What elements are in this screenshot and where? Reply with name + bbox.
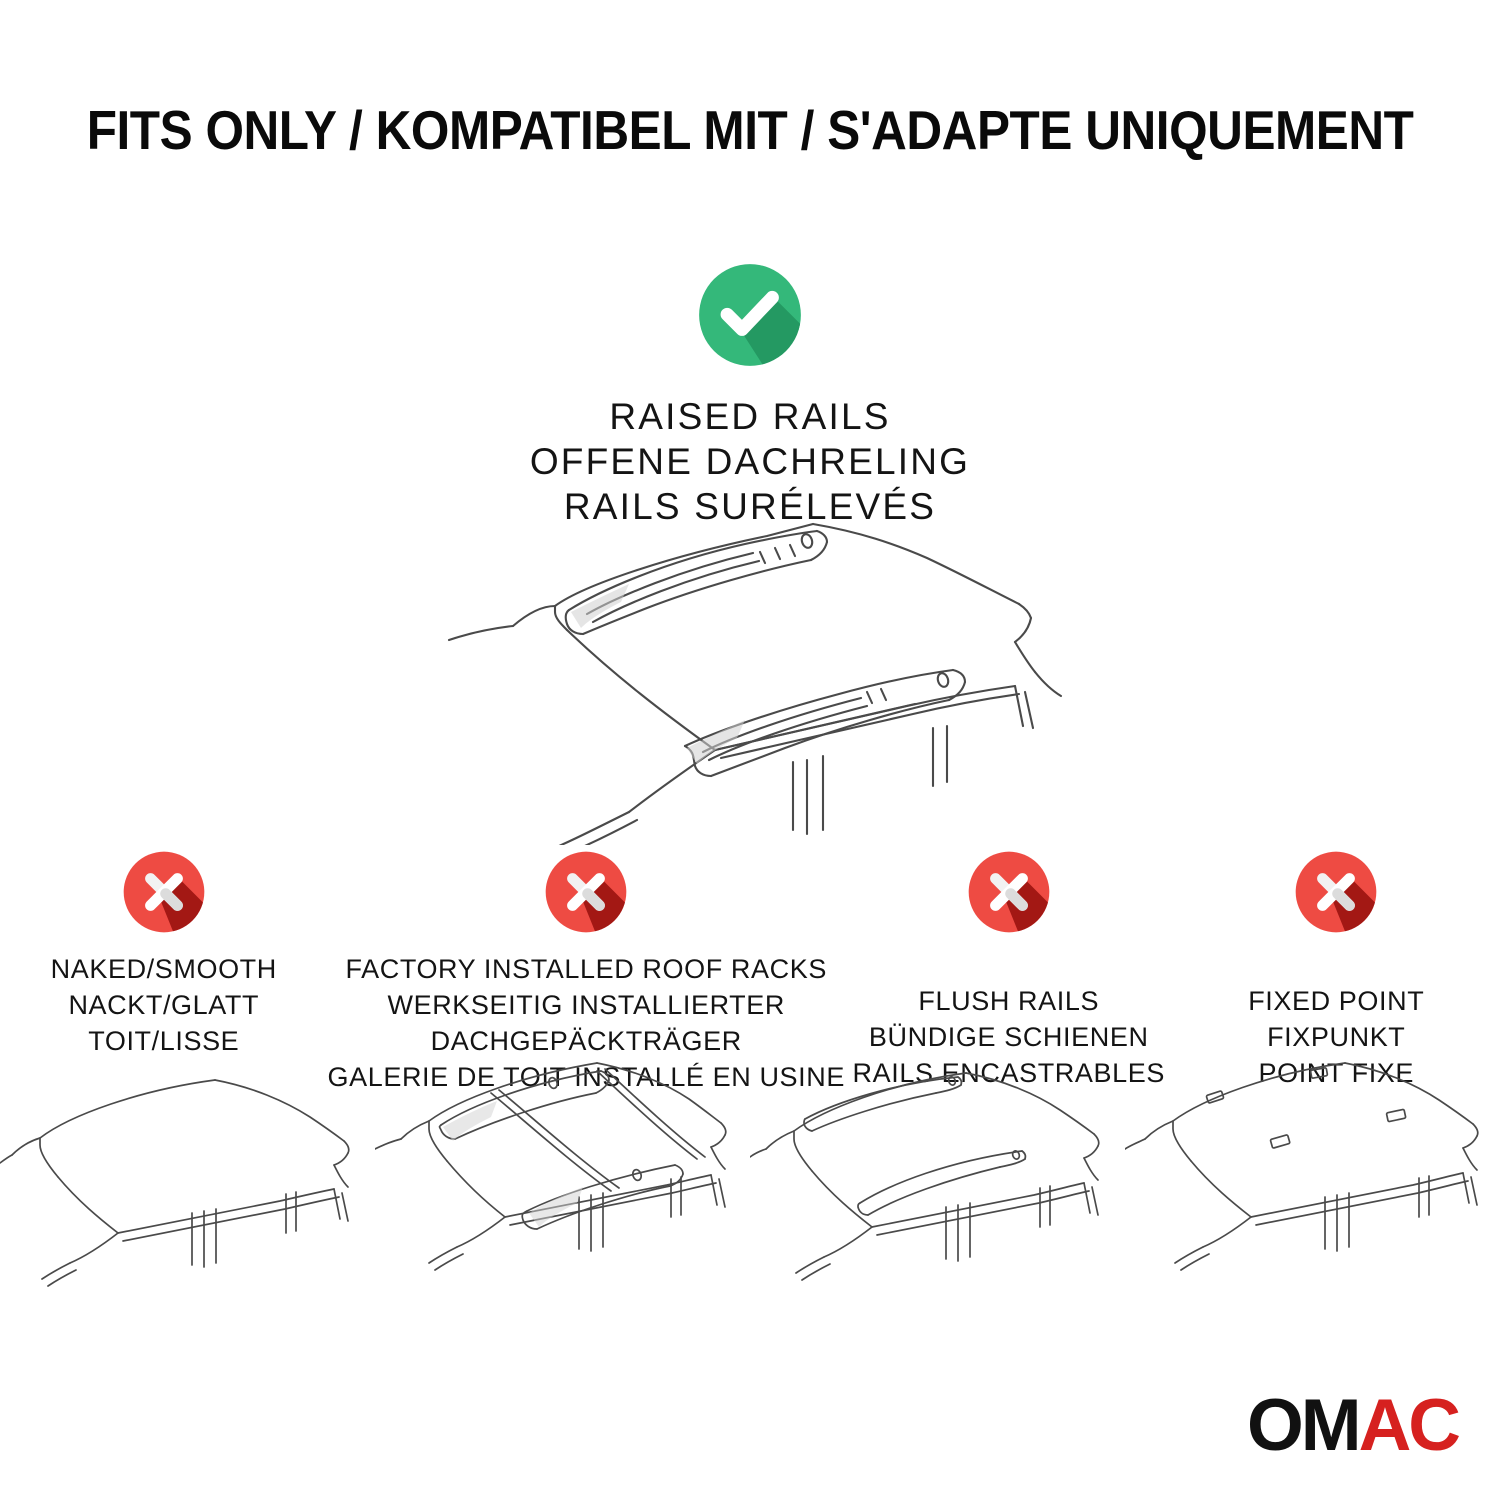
- page-title: FITS ONLY / KOMPATIBEL MIT / S'ADAPTE UN…: [87, 103, 1414, 158]
- header-bar: FITS ONLY / KOMPATIBEL MIT / S'ADAPTE UN…: [0, 103, 1500, 158]
- x-circle-icon: [1294, 850, 1378, 934]
- caption-line: NACKT/GLATT: [51, 988, 277, 1024]
- brand-logo: OMAC: [1247, 1389, 1458, 1462]
- approved-caption-line-de: OFFENE DACHRELING: [530, 439, 970, 484]
- x-circle-icon: [122, 850, 206, 934]
- raised-rails-roof-illustration: [415, 500, 1085, 845]
- caption-line: BÜNDIGE SCHIENEN: [853, 1020, 1165, 1056]
- caption-line: NAKED/SMOOTH: [51, 952, 277, 988]
- approved-section: RAISED RAILS OFFENE DACHRELING RAILS SUR…: [0, 262, 1500, 529]
- brand-logo-dark-part: OM: [1247, 1389, 1359, 1462]
- caption-line: FACTORY INSTALLED ROOF RACKS: [328, 952, 845, 988]
- caption-line: FLUSH RAILS: [853, 984, 1165, 1020]
- fixed-point-roof-illustration: [1125, 1055, 1500, 1305]
- check-circle-icon: [697, 262, 803, 368]
- caption-line: FIXPUNKT: [1248, 1020, 1424, 1056]
- vehicle-illustration-row: [0, 1055, 1500, 1305]
- approved-caption-line-en: RAISED RAILS: [530, 394, 970, 439]
- x-circle-icon: [544, 850, 628, 934]
- naked-smooth-roof-illustration: [0, 1055, 375, 1305]
- reject-caption-naked-smooth: NAKED/SMOOTH NACKT/GLATT TOIT/LISSE: [51, 952, 277, 1060]
- caption-line: FIXED POINT: [1248, 984, 1424, 1020]
- x-circle-icon: [967, 850, 1051, 934]
- brand-logo-accent-part: AC: [1359, 1389, 1458, 1462]
- flush-rails-roof-illustration: [750, 1055, 1125, 1305]
- factory-roof-racks-illustration: [375, 1055, 750, 1305]
- caption-line: WERKSEITIG INSTALLIERTER: [328, 988, 845, 1024]
